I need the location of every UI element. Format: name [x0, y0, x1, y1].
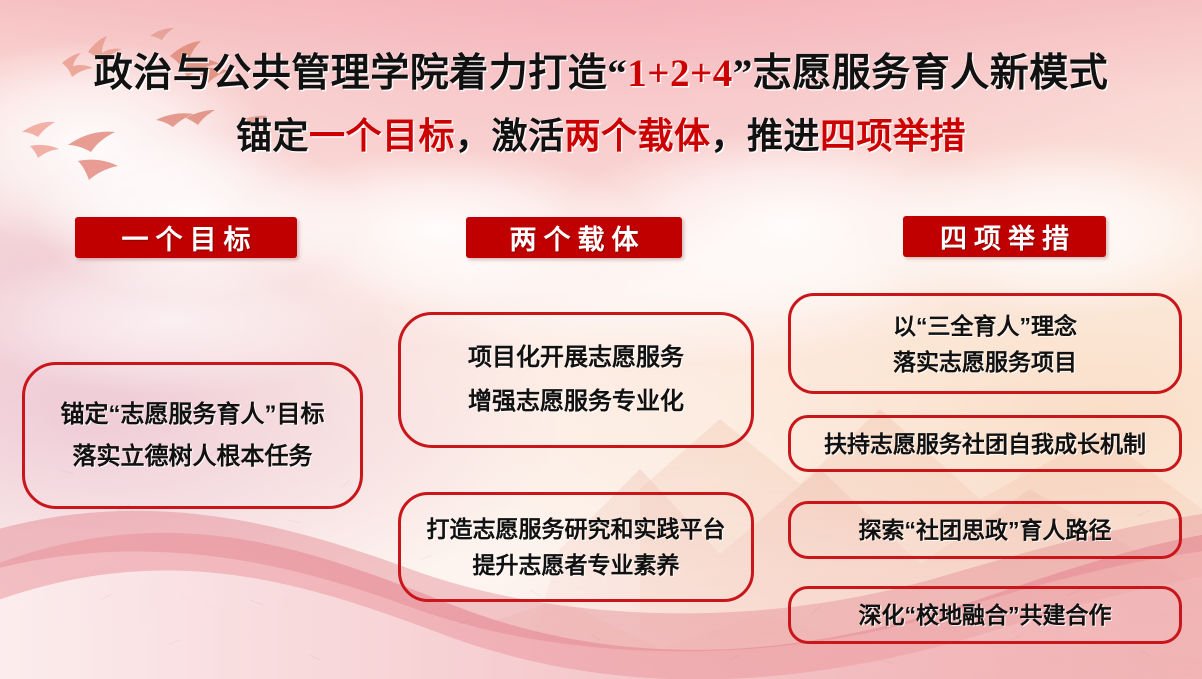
title-run: 1+2+4 [627, 52, 732, 95]
title-run: ” [733, 52, 753, 95]
title-line-2: 锚定一个目标，激活两个载体，推进四项举措 [0, 110, 1202, 162]
title-line-1: 政治与公共管理学院着力打造“1+2+4”志愿服务育人新模式 [0, 48, 1202, 100]
box-line: 以“三全育人”理念 [893, 308, 1077, 344]
box-line: 增强志愿服务专业化 [468, 380, 684, 424]
box-line: 探索“社团思政”育人路径 [859, 515, 1112, 545]
slide-title: 政治与公共管理学院着力打造“1+2+4”志愿服务育人新模式 锚定一个目标，激活两… [0, 48, 1202, 162]
title-run: 锚定 [236, 116, 309, 156]
content-box-carrier-1[interactable]: 项目化开展志愿服务 增强志愿服务专业化 [398, 312, 754, 448]
content-box-measure-3[interactable]: 探索“社团思政”育人路径 [788, 501, 1182, 559]
title-run: 政治与公共管理学院着力打造 [94, 52, 608, 95]
column-header-one-goal[interactable]: 一个目标 [75, 217, 297, 258]
title-run: 一个目标 [309, 116, 455, 156]
column-header-four-measures[interactable]: 四项举措 [903, 216, 1106, 257]
column-header-label: 一个目标 [115, 218, 258, 257]
column-header-label: 四项举措 [933, 217, 1076, 256]
title-run: 志愿服务育人新模式 [753, 52, 1109, 95]
column-header-two-carriers[interactable]: 两个载体 [466, 217, 682, 258]
box-line: 打造志愿服务研究和实践平台 [427, 511, 726, 547]
title-run: ，激活 [455, 116, 565, 156]
content-box-carrier-2[interactable]: 打造志愿服务研究和实践平台 提升志愿者专业素养 [398, 492, 754, 602]
title-run: “ [607, 52, 627, 95]
slide-canvas: 政治与公共管理学院着力打造“1+2+4”志愿服务育人新模式 锚定一个目标，激活两… [0, 0, 1202, 679]
box-line: 提升志愿者专业素养 [473, 547, 680, 583]
content-box-goal[interactable]: 锚定“志愿服务育人”目标 落实立德树人根本任务 [22, 362, 363, 509]
box-line: 深化“校地融合”共建合作 [859, 600, 1112, 630]
content-box-measure-4[interactable]: 深化“校地融合”共建合作 [788, 586, 1182, 644]
box-line: 落实志愿服务项目 [893, 344, 1077, 380]
box-line: 锚定“志愿服务育人”目标 [61, 394, 325, 436]
title-run: 四项举措 [820, 116, 966, 156]
box-line: 项目化开展志愿服务 [468, 336, 684, 380]
title-run: ，推进 [711, 116, 821, 156]
content-box-measure-2[interactable]: 扶持志愿服务社团自我成长机制 [788, 415, 1182, 472]
content-box-measure-1[interactable]: 以“三全育人”理念 落实志愿服务项目 [788, 293, 1182, 394]
box-line: 落实立德树人根本任务 [73, 436, 313, 478]
title-run: 两个载体 [565, 116, 711, 156]
box-line: 扶持志愿服务社团自我成长机制 [824, 429, 1146, 459]
column-header-label: 两个载体 [503, 218, 646, 257]
